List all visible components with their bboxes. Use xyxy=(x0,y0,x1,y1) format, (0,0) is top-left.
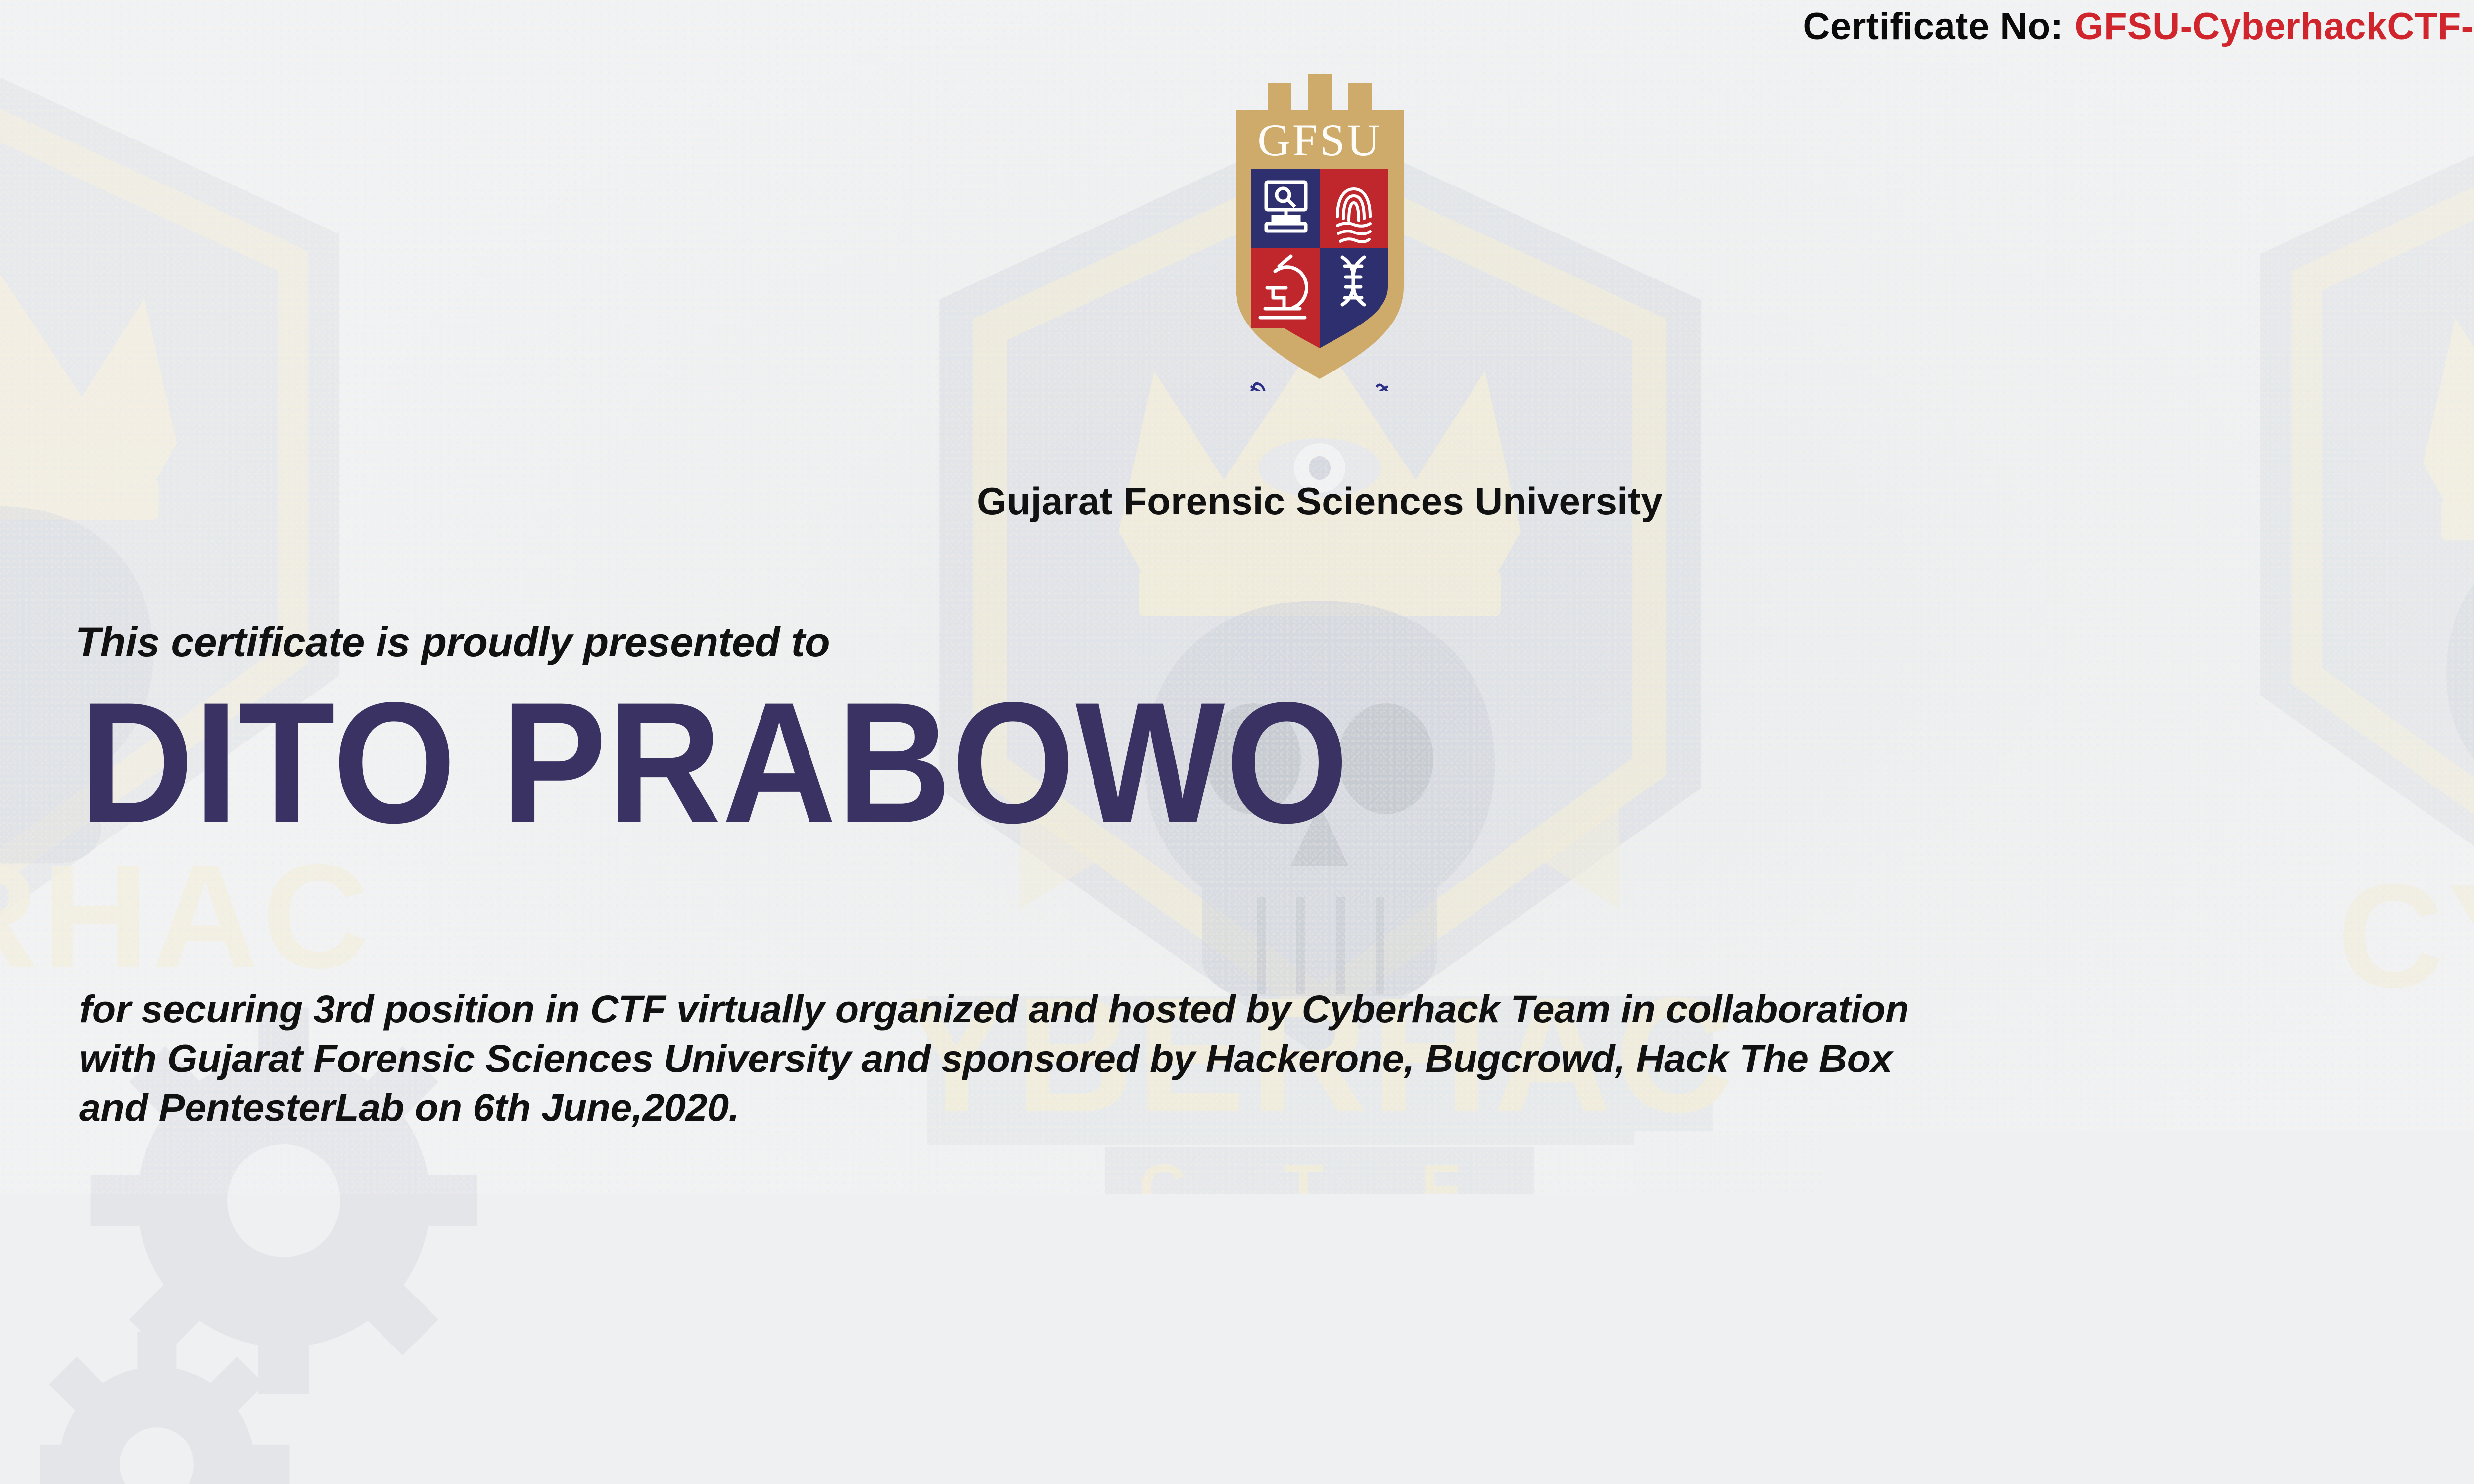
gfsu-motto-path: विद्यया अमृतं अश्नुते xyxy=(1241,380,1398,391)
presented-to-line: This certificate is proudly presented to xyxy=(75,618,830,666)
certificate-body: for securing 3rd position in CTF virtual… xyxy=(79,984,2405,1132)
gfsu-wordmark: GFSU xyxy=(1257,115,1381,165)
signature-rule xyxy=(99,1310,475,1316)
gfsu-emblem: GFSU xyxy=(1156,74,1483,391)
body-line-2: with Gujarat Forensic Sciences Universit… xyxy=(79,1034,2405,1083)
certificate-canvas: CYBERHACK C T F CYBERHACK xyxy=(0,0,2474,1484)
signature-mark xyxy=(158,1202,366,1306)
recipient-name: DITO PRABOWO xyxy=(79,677,1349,849)
body-line-3: and PentesterLab on 6th June,2020. xyxy=(79,1083,2405,1132)
gfsu-motto: विद्यया अमृतं अश्नुते xyxy=(1241,380,1398,391)
quadrant-fingerprint xyxy=(1320,169,1388,248)
certificate-content: Certificate No: GFSU-CyberhackCTF-2020-2… xyxy=(0,0,2474,1484)
signature-title: Director – IFS, GFSU. xyxy=(99,1333,534,1374)
body-line-1: for securing 3rd position in CTF virtual… xyxy=(79,984,2405,1034)
certificate-number: Certificate No: GFSU-CyberhackCTF-2020-2… xyxy=(1803,5,2474,48)
certificate-number-label: Certificate No: xyxy=(1803,5,2064,48)
university-name: Gujarat Forensic Sciences University xyxy=(0,479,2474,524)
signature-block: Director – IFS, GFSU. xyxy=(99,1202,534,1374)
certificate-number-value: GFSU-CyberhackCTF-2020-26 xyxy=(2074,5,2474,48)
